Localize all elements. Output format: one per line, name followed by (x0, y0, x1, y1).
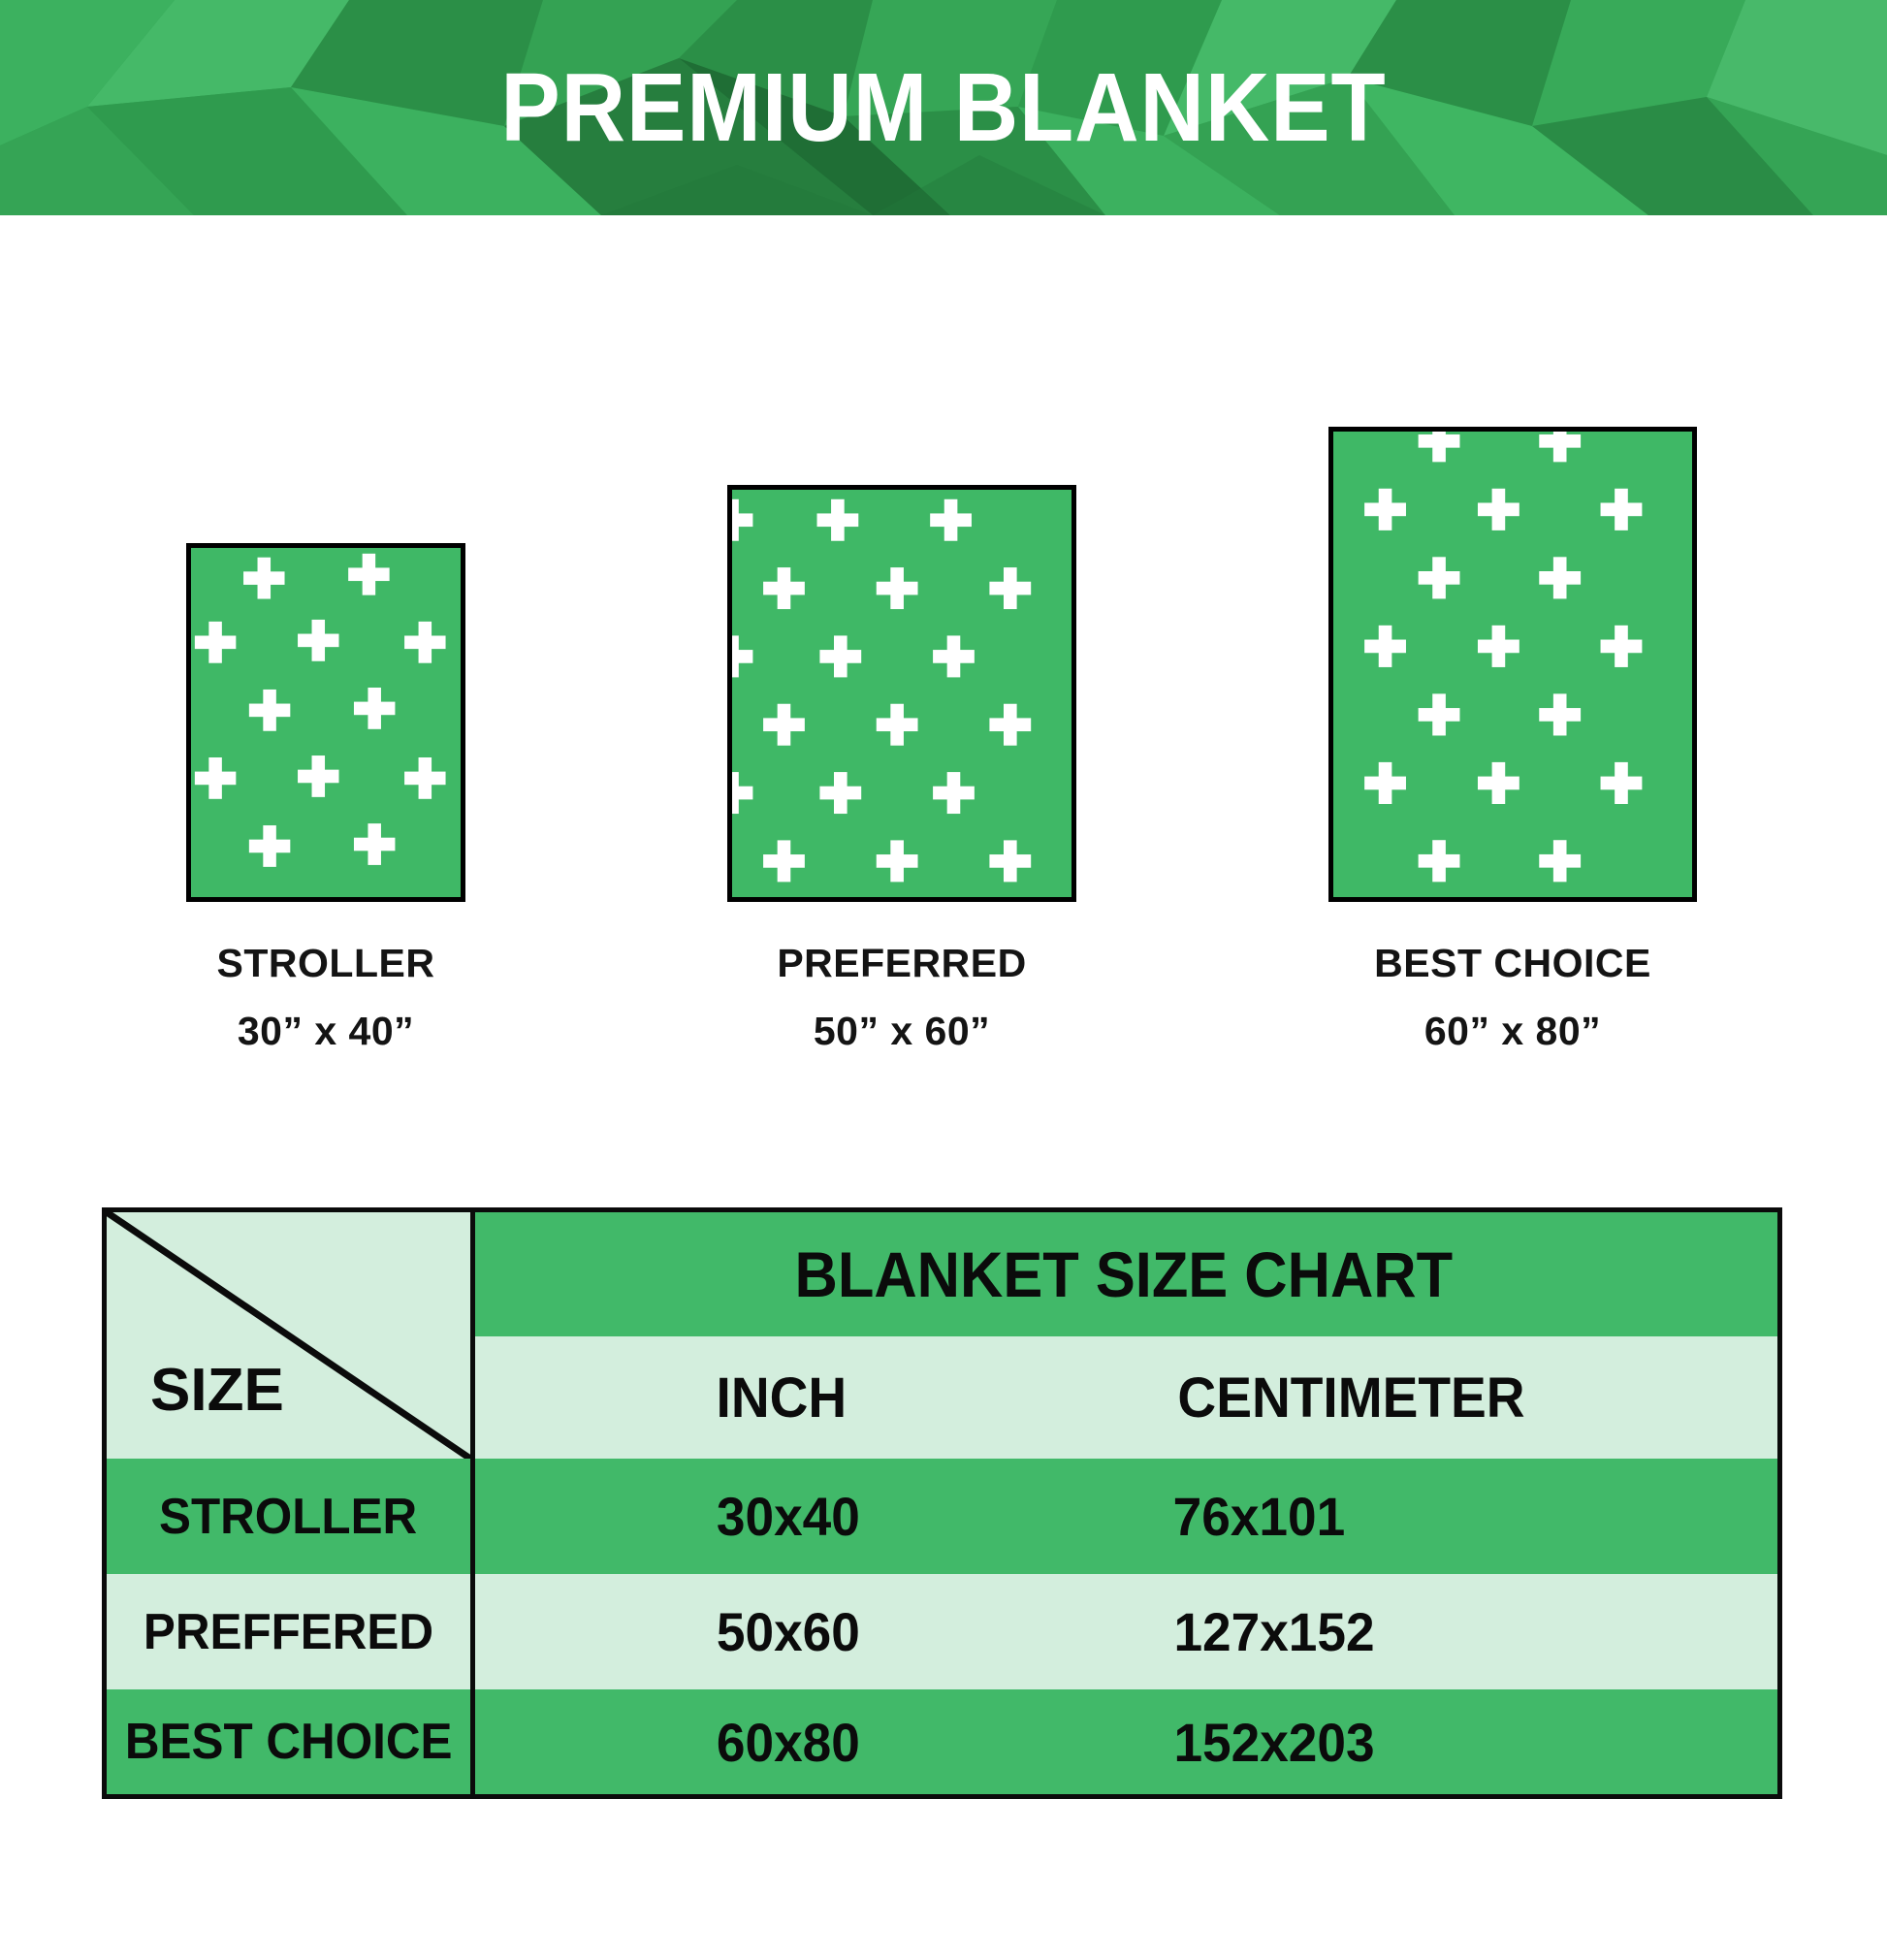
swatch-section: STROLLER 30” x 40” (0, 215, 1887, 1185)
swatch-dimensions-best-choice: 60” x 80” (1328, 1009, 1697, 1054)
row-size-cell: PREFFERED (107, 1574, 470, 1689)
chart-title-label: BLANKET SIZE CHART (795, 1237, 1454, 1311)
table-column-divider (470, 1212, 475, 1794)
row-values-cell: 50x60 127x152 (470, 1574, 1777, 1689)
swatch-group-best-choice: BEST CHOICE 60” x 80” (0, 215, 1887, 1185)
header-banner: PREMIUM BLANKET (0, 0, 1887, 215)
table-row: PREFFERED 50x60 127x152 (107, 1574, 1777, 1689)
row-centimeter-value: 127x152 (1173, 1600, 1374, 1663)
table-title-cell: BLANKET SIZE CHART (470, 1212, 1777, 1336)
row-centimeter-value: 152x203 (1173, 1711, 1374, 1774)
blanket-size-chart-table: BLANKET SIZE CHART INCH CENTIMETER SIZE … (102, 1207, 1782, 1799)
blanket-swatch-best-choice (1328, 427, 1697, 902)
row-size-label: PREFFERED (144, 1603, 433, 1661)
cross-pattern-best-choice (1333, 432, 1692, 897)
table-row: STROLLER 30x40 76x101 (107, 1459, 1777, 1574)
column-header-inch: INCH (717, 1366, 848, 1430)
table-row: BEST CHOICE 60x80 152x203 (107, 1689, 1777, 1794)
row-inch-value: 60x80 (717, 1711, 860, 1774)
row-values-cell: 30x40 76x101 (470, 1459, 1777, 1574)
row-inch-value: 30x40 (717, 1485, 860, 1548)
row-size-cell: STROLLER (107, 1459, 470, 1574)
row-values-cell: 60x80 152x203 (470, 1689, 1777, 1794)
row-size-label: BEST CHOICE (125, 1713, 453, 1771)
row-size-label: STROLLER (159, 1488, 417, 1546)
table-size-corner-cell: SIZE (107, 1212, 470, 1459)
table-unit-header-cell: INCH CENTIMETER (470, 1336, 1777, 1459)
row-inch-value: 50x60 (717, 1600, 860, 1663)
row-size-cell: BEST CHOICE (107, 1689, 470, 1794)
size-corner-label: SIZE (150, 1356, 284, 1425)
row-centimeter-value: 76x101 (1173, 1485, 1346, 1548)
swatch-caption-best-choice: BEST CHOICE (1328, 941, 1697, 986)
page-title: PREMIUM BLANKET (76, 0, 1811, 215)
column-header-centimeter: CENTIMETER (1177, 1366, 1524, 1430)
